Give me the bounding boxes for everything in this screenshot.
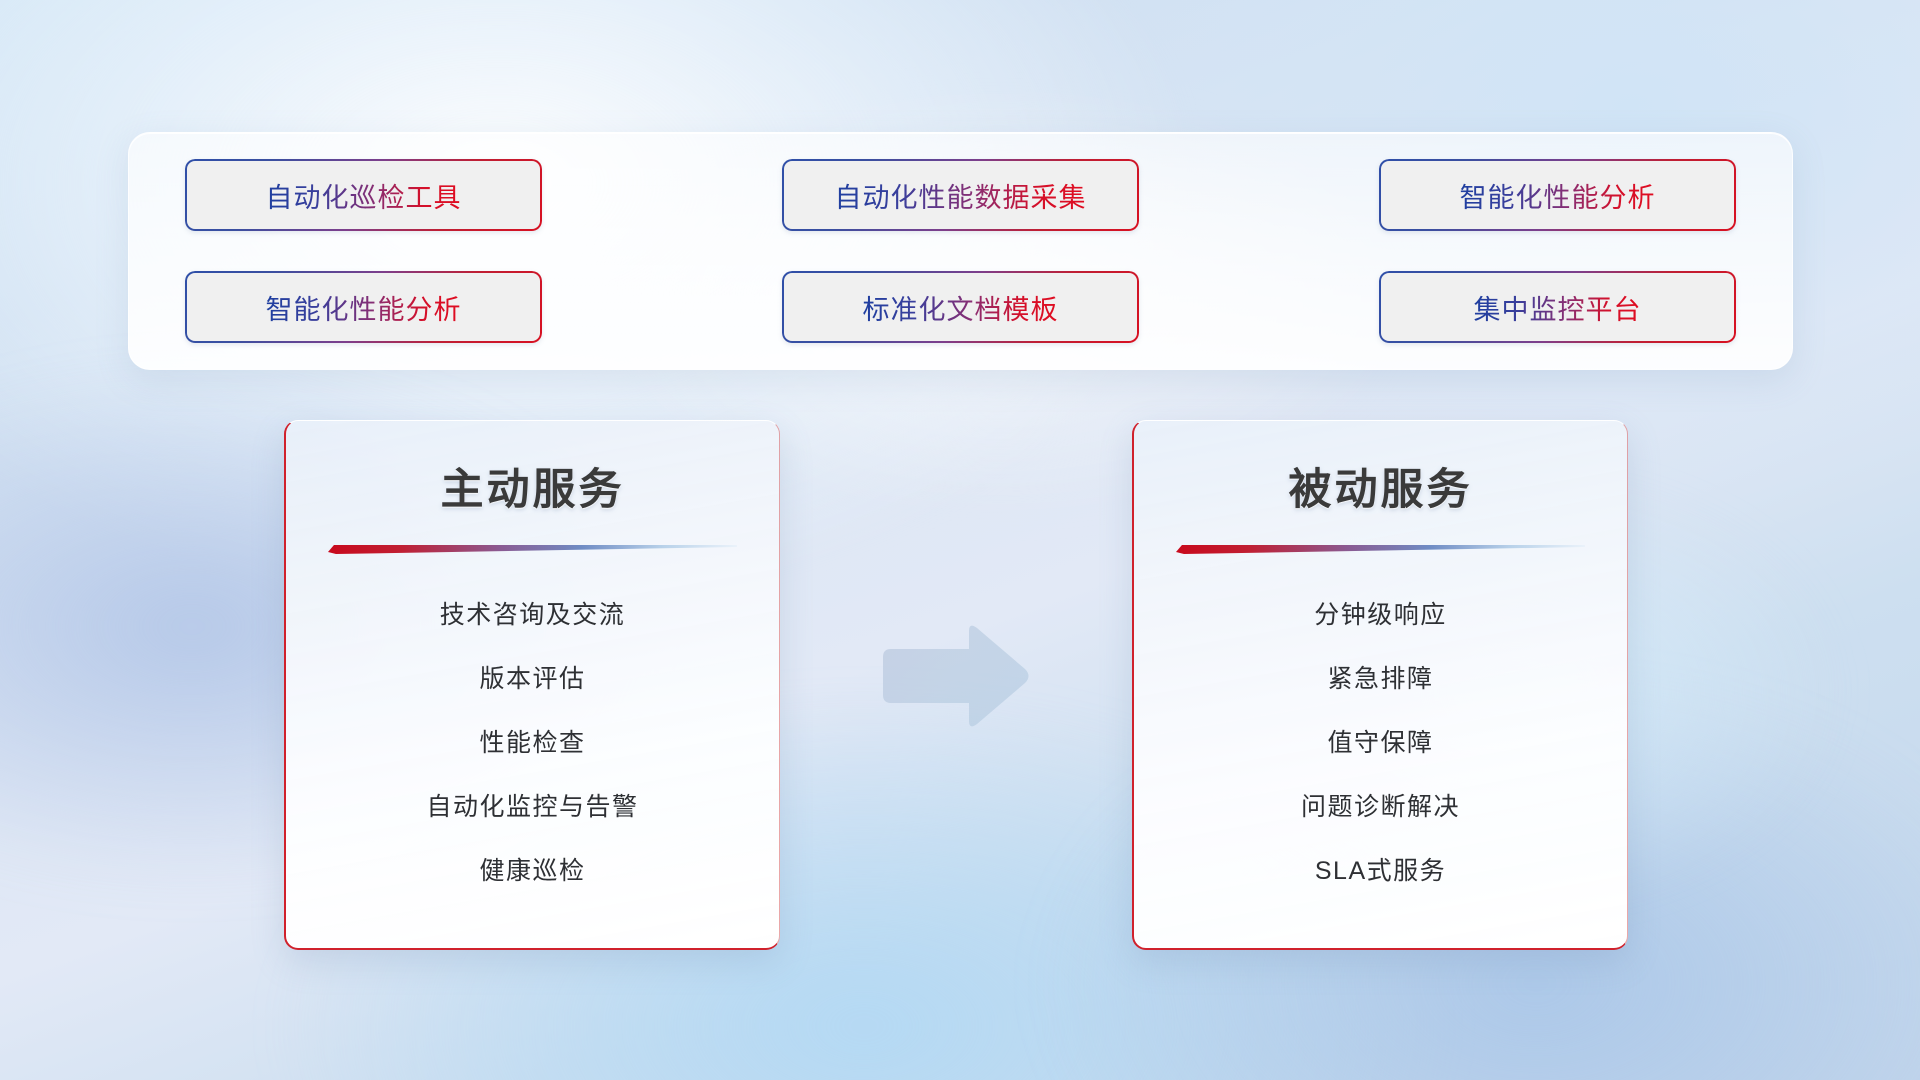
capability-chip-intelligent-perf-analysis-2[interactable]: 智能化性能分析 — [185, 271, 542, 343]
list-item[interactable]: SLA式服务 — [1134, 837, 1627, 901]
arrow-right-icon — [873, 621, 1033, 733]
list-item[interactable]: 健康巡检 — [286, 837, 779, 901]
capability-chip-label: 标准化文档模板 — [863, 288, 1059, 327]
list-item[interactable]: 分钟级响应 — [1134, 581, 1627, 645]
service-card-active[interactable]: 主动服务 技术咨询及交流 版本评估 性能检查 — [284, 420, 780, 950]
list-item[interactable]: 问题诊断解决 — [1134, 773, 1627, 837]
capability-chip-standard-doc-template[interactable]: 标准化文档模板 — [782, 271, 1139, 343]
service-item-list: 分钟级响应 紧急排障 值守保障 问题诊断解决 SLA式服务 — [1134, 581, 1627, 901]
capability-chip-intelligent-perf-analysis[interactable]: 智能化性能分析 — [1379, 159, 1736, 231]
capability-chip-label: 集中监控平台 — [1474, 288, 1642, 327]
capability-chip-label: 智能化性能分析 — [266, 288, 462, 327]
capability-row-2: 智能化性能分析 标准化文档模板 集中监控平台 — [185, 271, 1736, 343]
capability-panel: 自动化巡检工具 自动化性能数据采集 智能化性能分析 智能化性能分析 标准化文档模… — [128, 132, 1793, 370]
list-item[interactable]: 值守保障 — [1134, 709, 1627, 773]
capability-row-1: 自动化巡检工具 自动化性能数据采集 智能化性能分析 — [185, 159, 1736, 231]
capability-chip-label: 自动化巡检工具 — [266, 176, 462, 215]
slide-stage: 自动化巡检工具 自动化性能数据采集 智能化性能分析 智能化性能分析 标准化文档模… — [0, 0, 1920, 1080]
list-item[interactable]: 性能检查 — [286, 709, 779, 773]
capability-chip-label: 自动化性能数据采集 — [835, 176, 1087, 215]
list-item[interactable]: 技术咨询及交流 — [286, 581, 779, 645]
service-card-title: 主动服务 — [286, 455, 779, 517]
capability-chip-central-monitoring-platform[interactable]: 集中监控平台 — [1379, 271, 1736, 343]
service-card-divider — [1176, 543, 1585, 555]
service-card-passive[interactable]: 被动服务 分钟级响应 紧急排障 值守保障 — [1132, 420, 1628, 950]
list-item[interactable]: 版本评估 — [286, 645, 779, 709]
service-item-list: 技术咨询及交流 版本评估 性能检查 自动化监控与告警 健康巡检 — [286, 581, 779, 901]
list-item[interactable]: 紧急排障 — [1134, 645, 1627, 709]
capability-chip-label: 智能化性能分析 — [1460, 176, 1656, 215]
list-item[interactable]: 自动化监控与告警 — [286, 773, 779, 837]
service-card-divider — [328, 543, 737, 555]
capability-chip-auto-inspection-tool[interactable]: 自动化巡检工具 — [185, 159, 542, 231]
service-card-title: 被动服务 — [1134, 455, 1627, 517]
capability-chip-auto-perf-data-collection[interactable]: 自动化性能数据采集 — [782, 159, 1139, 231]
